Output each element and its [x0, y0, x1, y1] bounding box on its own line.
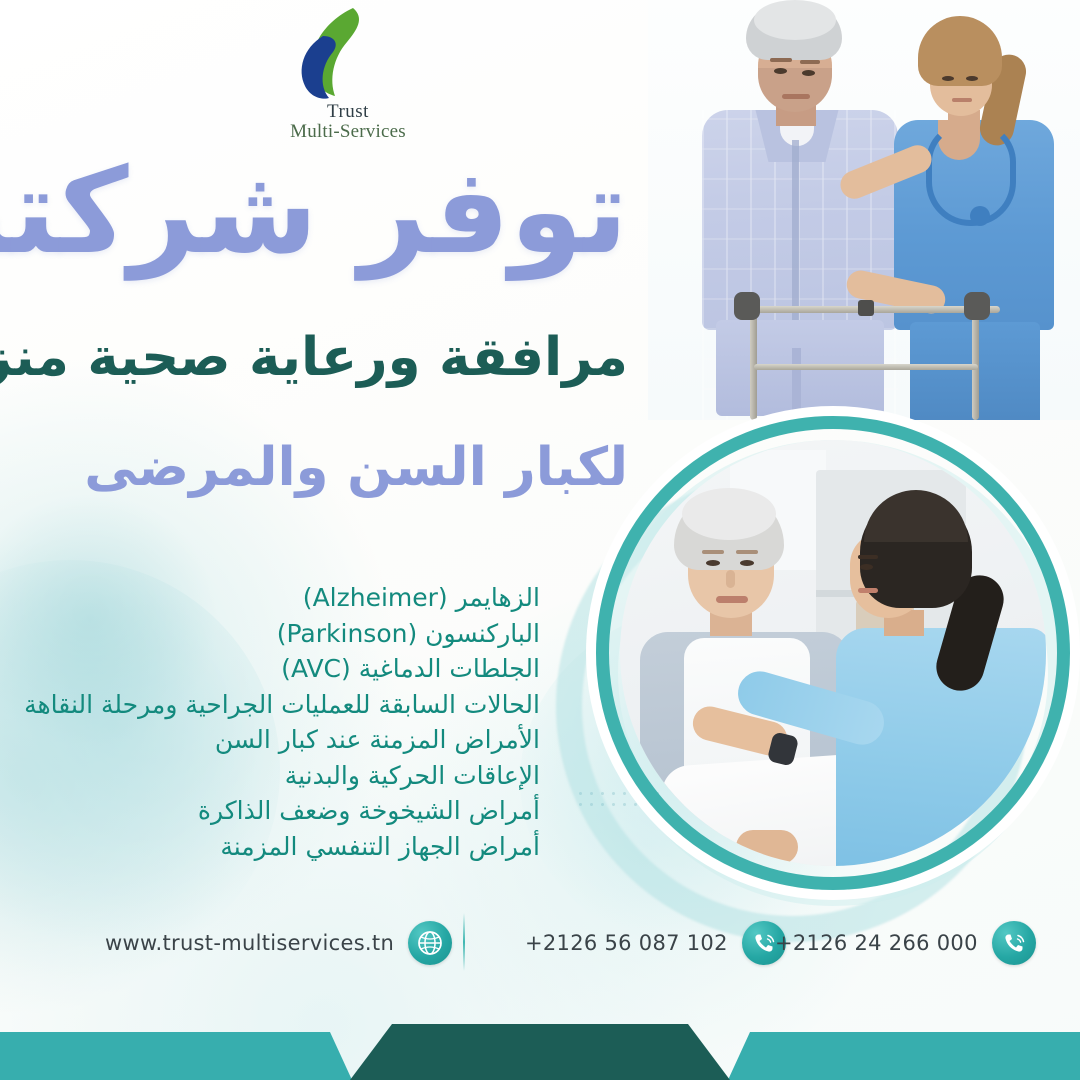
list-item: الحالات السابقة للعمليات الجراحية ومرحلة…	[8, 687, 540, 723]
phone-contact-2[interactable]: +2126 24 266 000	[775, 921, 1036, 965]
logo-text-line2: Multi-Services	[283, 122, 413, 143]
list-item: الزهايمر (Alzheimer)	[8, 580, 540, 616]
photo-elderly-man-with-nurse	[648, 0, 1080, 420]
globe-icon	[408, 921, 452, 965]
list-item: الإعاقات الحركية والبدنية	[8, 758, 540, 794]
walking-frame	[740, 290, 1010, 420]
bottom-decorative-band	[0, 1018, 1080, 1080]
leaf-logo-icon	[283, 6, 413, 100]
list-item: الجلطات الدماغية (AVC)	[8, 651, 540, 687]
list-item: الباركنسون (Parkinson)	[8, 616, 540, 652]
brand-logo: Trust Multi-Services	[283, 6, 413, 140]
list-item: أمراض الجهاز التنفسي المزمنة	[8, 829, 540, 865]
headline-line-1: توفر شركتنا	[0, 152, 628, 270]
band-center-shape	[350, 1024, 730, 1080]
website-contact[interactable]: www.trust-multiservices.tn	[105, 921, 452, 965]
band-right-shape	[728, 1032, 1080, 1080]
phone-number-1: +2126 56 087 102	[525, 931, 728, 955]
phone-call-icon	[992, 921, 1036, 965]
circle-photo-ring	[596, 416, 1070, 890]
website-url: www.trust-multiservices.tn	[105, 931, 394, 955]
band-left-shape	[0, 1032, 352, 1080]
list-item: الأمراض المزمنة عند كبار السن	[8, 722, 540, 758]
conditions-list: الزهايمر (Alzheimer) الباركنسون (Parkins…	[8, 580, 540, 864]
footer-divider	[463, 913, 465, 971]
photo-circle-nurse-and-elderly-woman	[596, 416, 1070, 890]
footer-contact-bar: www.trust-multiservices.tn +2126 56 087 …	[0, 915, 1080, 985]
phone-number-2: +2126 24 266 000	[775, 931, 978, 955]
phone-contact-1[interactable]: +2126 56 087 102	[525, 921, 786, 965]
poster-canvas: Trust Multi-Services توفر شركتنا مرافقة …	[0, 0, 1080, 1080]
logo-text-line1: Trust	[283, 102, 413, 122]
headline-line-3: لكبار السن والمرضى	[84, 440, 628, 496]
headline-line-2: مرافقة ورعاية صحية منزلية	[0, 330, 628, 386]
list-item: أمراض الشيخوخة وضعف الذاكرة	[8, 793, 540, 829]
